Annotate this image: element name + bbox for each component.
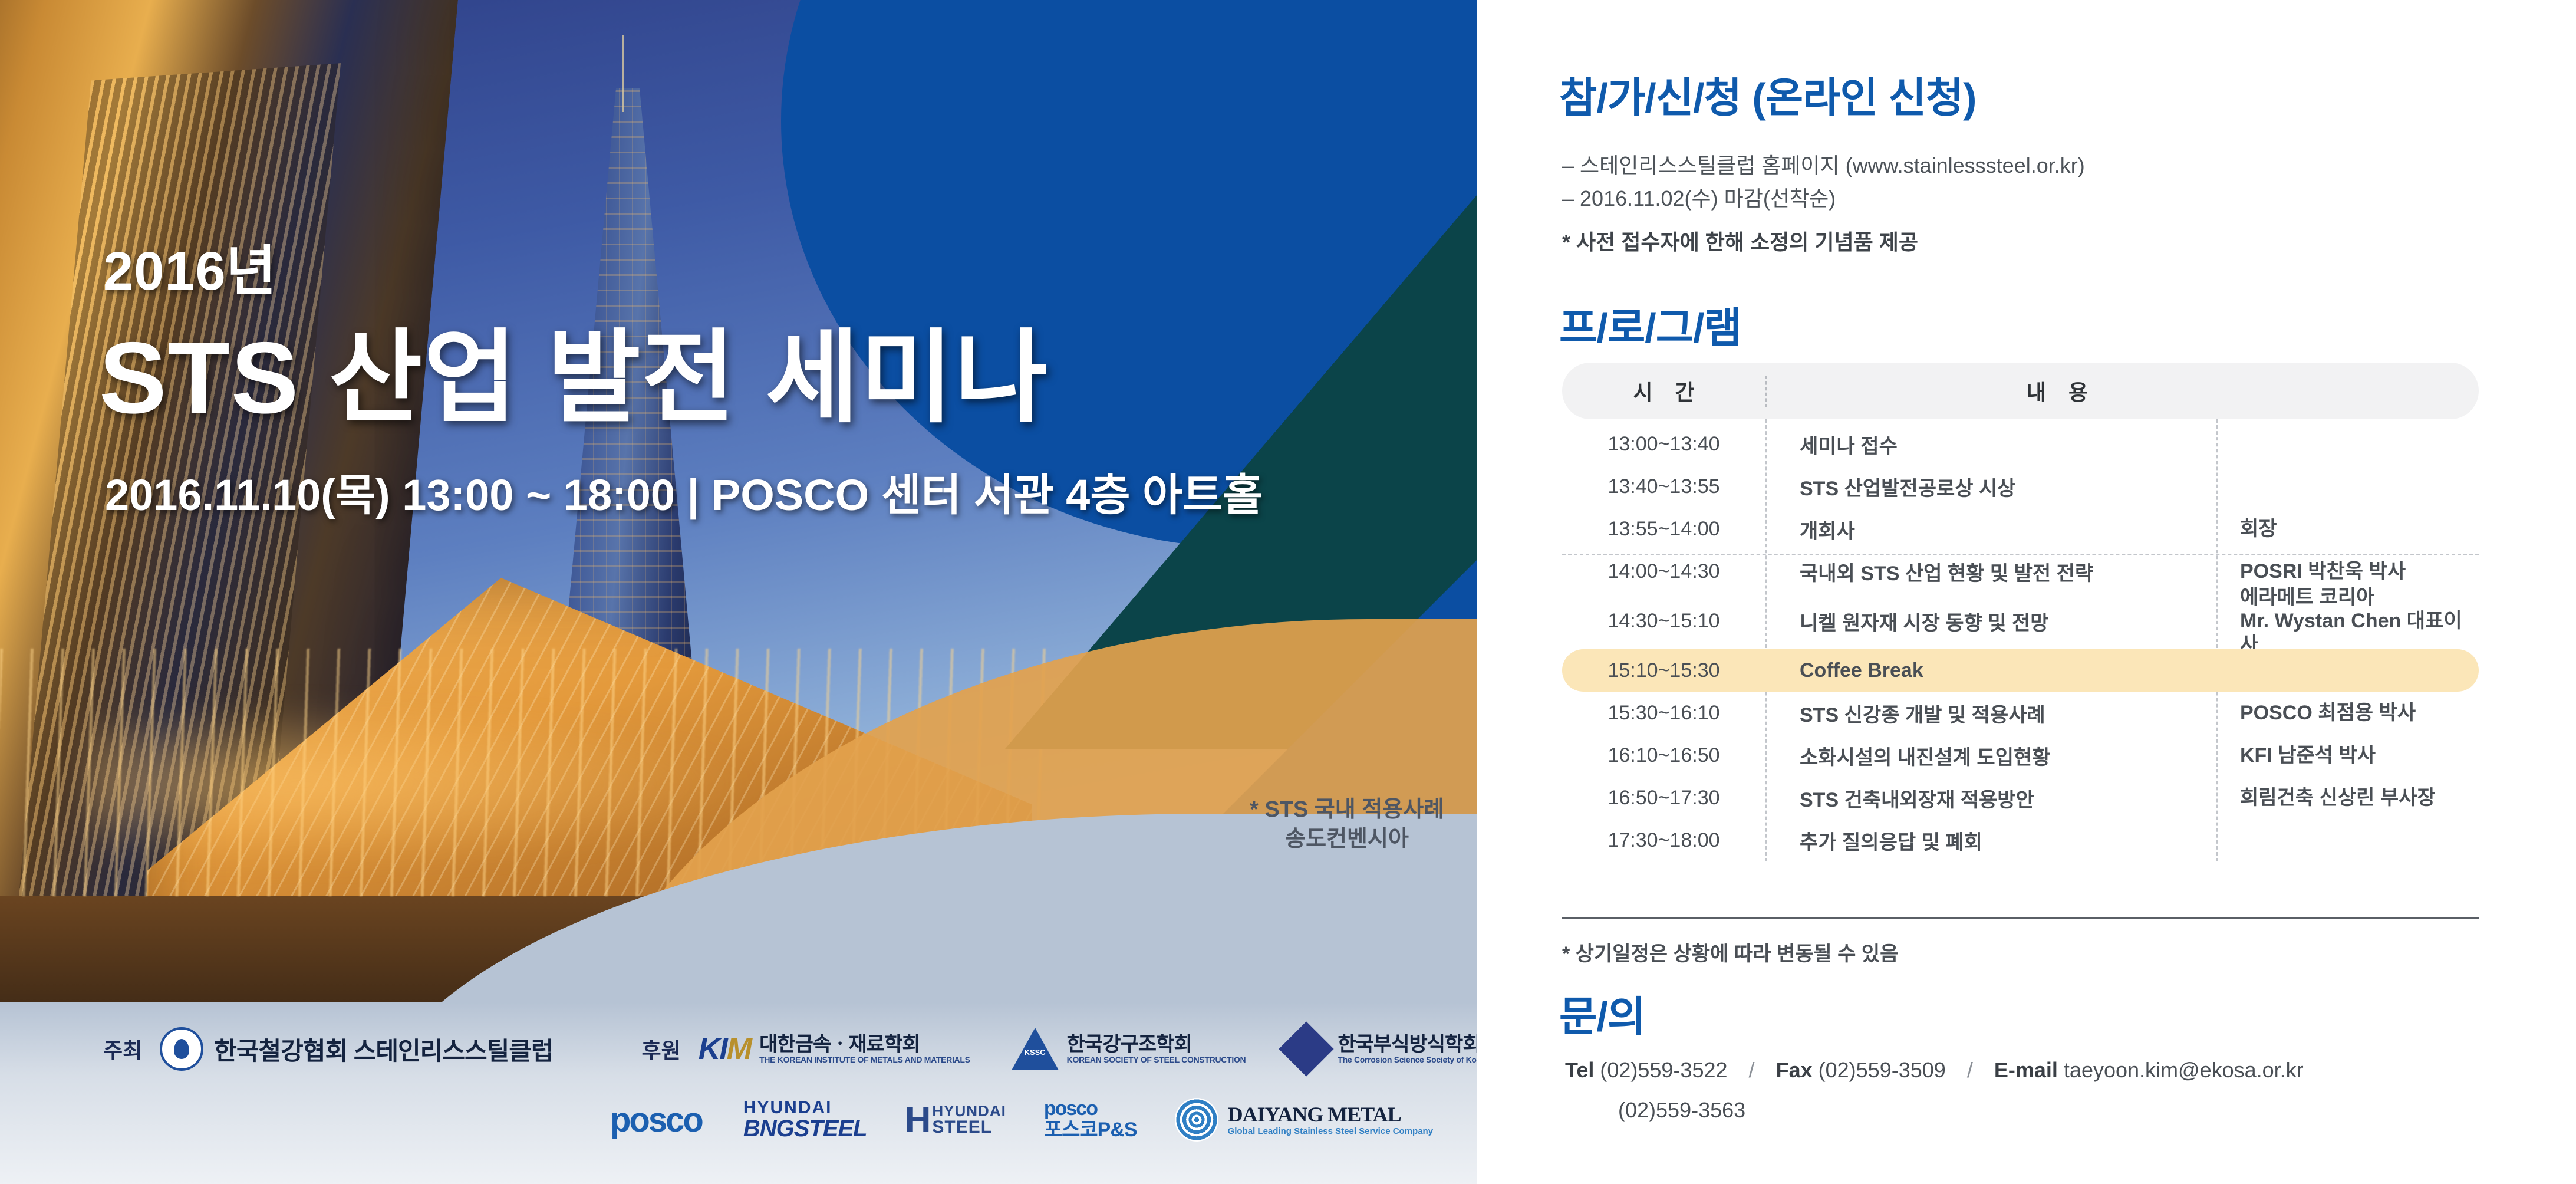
logo-css-name-ko: 한국부식방식학회 <box>1338 1034 1477 1055</box>
cell-speaker: 희림건축 신상린 부사장 <box>2216 786 2479 810</box>
kssc-triangle-icon <box>1012 1028 1059 1070</box>
apply-line-gift: * 사전 접수자에 한해 소정의 기념품 제공 <box>1562 225 1918 256</box>
fax-value: (02)559-3509 <box>1819 1058 1946 1082</box>
cell-content: 니켈 원자재 시장 동향 및 전망 <box>1765 607 2216 636</box>
logo-posco-pns: posco 포스코P&S <box>1044 1099 1137 1140</box>
cell-time: 14:30~15:10 <box>1562 610 1765 633</box>
daiyang-target-icon <box>1175 1098 1218 1142</box>
logo-pns-top: posco <box>1044 1099 1137 1120</box>
cell-content: 세미나 접수 <box>1765 430 2216 459</box>
logo-pns-bottom: 포스코P&S <box>1044 1120 1137 1141</box>
logo-kim-name-ko: 대한금속ㆍ재료학회 <box>759 1034 970 1055</box>
column-header-time: 시 간 <box>1562 376 1765 406</box>
cell-time: 14:00~14:30 <box>1562 560 1765 583</box>
logo-kim: KIM 대한금속ㆍ재료학회 THE KOREAN INSTITUTE OF ME… <box>699 1031 970 1067</box>
organizer-row: 주최 한국철강협회 스테인리스스틸클럽 후원 KIM 대한금속ㆍ재료학회 THE… <box>103 1027 1477 1071</box>
logo-css-name-en: The Corrosion Science Society of Korea <box>1338 1055 1477 1064</box>
cell-content: STS 산업발전공로상 시상 <box>1765 472 2216 501</box>
logo-kssc-name-en: KOREAN SOCIETY OF STEEL CONSTRUCTION <box>1067 1055 1246 1064</box>
program-note: * 상기일정은 상황에 따라 변동될 수 있음 <box>1562 938 1898 966</box>
host-name: 한국철강협회 스테인리스스틸클럽 <box>214 1031 553 1067</box>
logo-kssc-name-ko: 한국강구조학회 <box>1067 1034 1246 1055</box>
crane-cable <box>622 35 624 112</box>
contact-separator-2: / <box>1952 1058 1988 1082</box>
column-header-content: 내 용 <box>1765 376 2479 406</box>
email-value[interactable]: taeyoon.kim@ekosa.or.kr <box>2064 1058 2304 1082</box>
logo-bng-bottom: BNGSTEEL <box>743 1117 867 1140</box>
cell-time: 13:40~13:55 <box>1562 475 1765 498</box>
cell-speaker: POSRI 박찬욱 박사 <box>2216 560 2479 583</box>
tel-value-secondary: (02)559-3563 <box>1618 1098 1745 1123</box>
hero-year: 2016년 <box>103 227 276 305</box>
cell-time: 13:55~14:00 <box>1562 518 1765 541</box>
hero-image-panel: 2016년 STS 산업 발전 세미나 2016.11.10(목) 13:00 … <box>0 0 1477 1184</box>
table-row: 13:00~13:40세미나 접수 <box>1562 423 2479 465</box>
tel-value: (02)559-3522 <box>1600 1058 1727 1082</box>
tel-label: Tel <box>1565 1058 1594 1082</box>
hero-subtitle: 2016.11.10(목) 13:00 ~ 18:00 | POSCO 센터 서… <box>105 460 1263 523</box>
table-row: 14:30~15:10니켈 원자재 시장 동향 및 전망에라메트 코리아 Mr.… <box>1562 593 2479 649</box>
table-row: 16:10~16:50소화시설의 내진설계 도입현황KFI 남준석 박사 <box>1562 734 2479 777</box>
cell-time: 17:30~18:00 <box>1562 829 1765 852</box>
apply-line-deadline: – 2016.11.02(수) 마감(선착순) <box>1562 182 1836 212</box>
cell-content: STS 건축내외장재 적용방안 <box>1765 784 2216 813</box>
cell-speaker: 회장 <box>2216 517 2479 541</box>
logo-hyundai-steel: H HYUNDAI STEEL <box>905 1099 1006 1141</box>
warm-glow <box>88 696 796 873</box>
cell-speaker: 에라메트 코리아 Mr. Wystan Chen 대표이사 <box>2216 586 2479 656</box>
hyundai-h-icon: H <box>905 1099 929 1141</box>
email-label: E-mail <box>1994 1058 2058 1082</box>
apply-line-homepage: – 스테인리스스틸클럽 홈페이지 (www.stainlesssteel.or.… <box>1562 149 2085 179</box>
host-label: 주최 <box>103 1034 142 1064</box>
cell-content: 소화시설의 내진설계 도입현황 <box>1765 741 2216 770</box>
cell-time: 13:00~13:40 <box>1562 433 1765 456</box>
cell-content: 추가 질의응답 및 폐회 <box>1765 826 2216 855</box>
company-logo-row: posco HYUNDAI BNGSTEEL H HYUNDAI STEEL p… <box>610 1098 1477 1142</box>
logo-daiyang-metal: DAIYANG METAL Global Leading Stainless S… <box>1175 1098 1433 1142</box>
logo-bng-top: HYUNDAI <box>743 1099 867 1117</box>
logo-posco: posco <box>610 1100 702 1140</box>
cell-time: 15:10~15:30 <box>1562 659 1765 682</box>
logo-daiyang-tagline: Global Leading Stainless Steel Service C… <box>1228 1127 1433 1137</box>
logo-kim-name-en: THE KOREAN INSTITUTE OF METALS AND MATER… <box>759 1055 970 1064</box>
steel-association-emblem-icon <box>160 1027 203 1071</box>
seminar-poster: 2016년 STS 산업 발전 세미나 2016.11.10(목) 13:00 … <box>0 0 2576 1184</box>
page-title: STS 산업 발전 세미나 <box>99 295 1049 442</box>
cell-speaker: KFI 남준석 박사 <box>2216 744 2479 767</box>
table-bottom-rule <box>1562 917 2479 919</box>
contact-separator-1: / <box>1734 1058 1770 1082</box>
cell-speaker: POSCO 최점용 박사 <box>2216 701 2479 725</box>
logo-hyundai-bng-steel: HYUNDAI BNGSTEEL <box>743 1099 867 1140</box>
logo-hsteel-bottom: STEEL <box>932 1119 1006 1136</box>
cell-content: STS 신강종 개발 및 적용사례 <box>1765 699 2216 728</box>
header-column-divider <box>1765 376 1767 407</box>
logo-daiyang-name: DAIYANG METAL <box>1228 1103 1433 1127</box>
cell-time: 16:50~17:30 <box>1562 787 1765 810</box>
table-row: 13:40~13:55STS 산업발전공로상 시상 <box>1562 465 2479 508</box>
logo-hsteel-top: HYUNDAI <box>932 1103 1006 1119</box>
kim-mark-icon: KIM <box>699 1031 751 1067</box>
table-header-row: 시 간 내 용 <box>1562 363 2479 419</box>
table-row: 15:30~16:10STS 신강종 개발 및 적용사례POSCO 최점용 박사 <box>1562 692 2479 734</box>
logo-kssc: 한국강구조학회 KOREAN SOCIETY OF STEEL CONSTRUC… <box>1012 1028 1246 1070</box>
section-heading-program: 프/로/그/램 <box>1559 295 1741 354</box>
corrosion-diamond-icon <box>1279 1021 1334 1076</box>
table-row-highlighted: 15:10~15:30Coffee Break <box>1562 649 2479 692</box>
contact-line-primary: Tel (02)559-3522 / Fax (02)559-3509 / E-… <box>1565 1058 2304 1083</box>
logo-ksa-stainless-club: 한국철강협회 스테인리스스틸클럽 <box>160 1027 553 1071</box>
cell-time: 15:30~16:10 <box>1562 702 1765 725</box>
section-heading-contact: 문/의 <box>1559 984 1645 1043</box>
section-heading-apply: 참/가/신/청 (온라인 신청) <box>1559 65 1976 124</box>
support-label: 후원 <box>642 1034 681 1064</box>
cell-content: Coffee Break <box>1765 659 2216 682</box>
cell-time: 16:10~16:50 <box>1562 744 1765 767</box>
cell-content: 개회사 <box>1765 515 2216 544</box>
photo-caption: * STS 국내 적용사례 송도컨벤시아 <box>1250 795 1444 854</box>
fax-label: Fax <box>1776 1058 1813 1082</box>
table-row: 16:50~17:30STS 건축내외장재 적용방안희림건축 신상린 부사장 <box>1562 777 2479 819</box>
program-table: 시 간 내 용 13:00~13:40세미나 접수13:40~13:55STS … <box>1562 363 2479 861</box>
table-row: 13:55~14:00개회사회장 <box>1562 508 2479 550</box>
cell-content: 국내외 STS 산업 현황 및 발전 전략 <box>1765 557 2216 586</box>
table-body: 13:00~13:40세미나 접수13:40~13:55STS 산업발전공로상 … <box>1562 419 2479 861</box>
logo-corrosion-society: 한국부식방식학회 The Corrosion Science Society o… <box>1287 1030 1477 1068</box>
table-row: 17:30~18:00추가 질의응답 및 폐회 <box>1562 819 2479 861</box>
